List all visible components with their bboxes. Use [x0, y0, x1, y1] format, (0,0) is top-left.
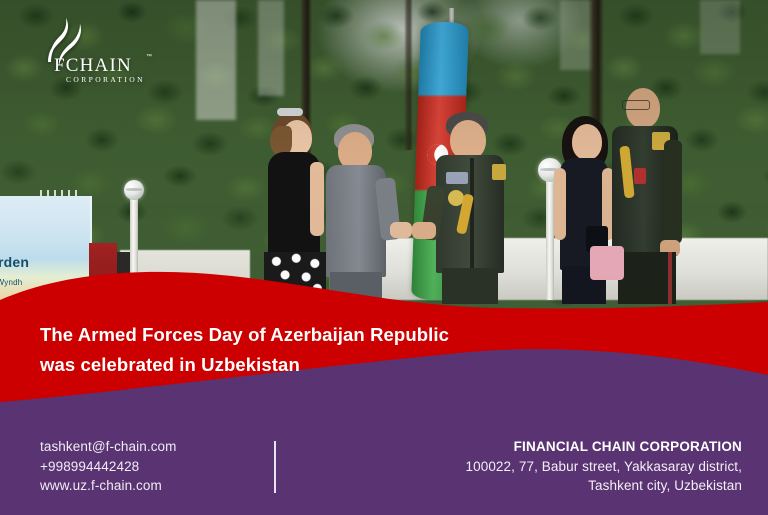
- address-line-2: Tashkent city, Uzbekistan: [466, 476, 743, 496]
- contact-phone[interactable]: +998994442428: [40, 457, 177, 477]
- logo-wordmark: FCHAIN: [54, 56, 132, 75]
- fchain-logo[interactable]: FCHAIN ™ CORPORATION: [28, 16, 158, 88]
- contact-website[interactable]: www.uz.f-chain.com: [40, 476, 177, 496]
- logo-subtitle: CORPORATION: [66, 75, 145, 84]
- footer-divider: [274, 441, 276, 493]
- logo-trademark: ™: [146, 54, 152, 60]
- company-name: FINANCIAL CHAIN CORPORATION: [466, 437, 743, 457]
- promo-card: arden y Wyndh ✦: [0, 0, 768, 515]
- address-line-1: 100022, 77, Babur street, Yakkasaray dis…: [466, 457, 743, 477]
- headline: The Armed Forces Day of Azerbaijan Repub…: [40, 320, 540, 380]
- headline-line-2: was celebrated in Uzbekistan: [40, 350, 540, 380]
- contact-block: tashkent@f-chain.com +998994442428 www.u…: [40, 437, 177, 496]
- address-block: FINANCIAL CHAIN CORPORATION 100022, 77, …: [466, 437, 743, 496]
- headline-line-1: The Armed Forces Day of Azerbaijan Repub…: [40, 320, 540, 350]
- contact-email[interactable]: tashkent@f-chain.com: [40, 437, 177, 457]
